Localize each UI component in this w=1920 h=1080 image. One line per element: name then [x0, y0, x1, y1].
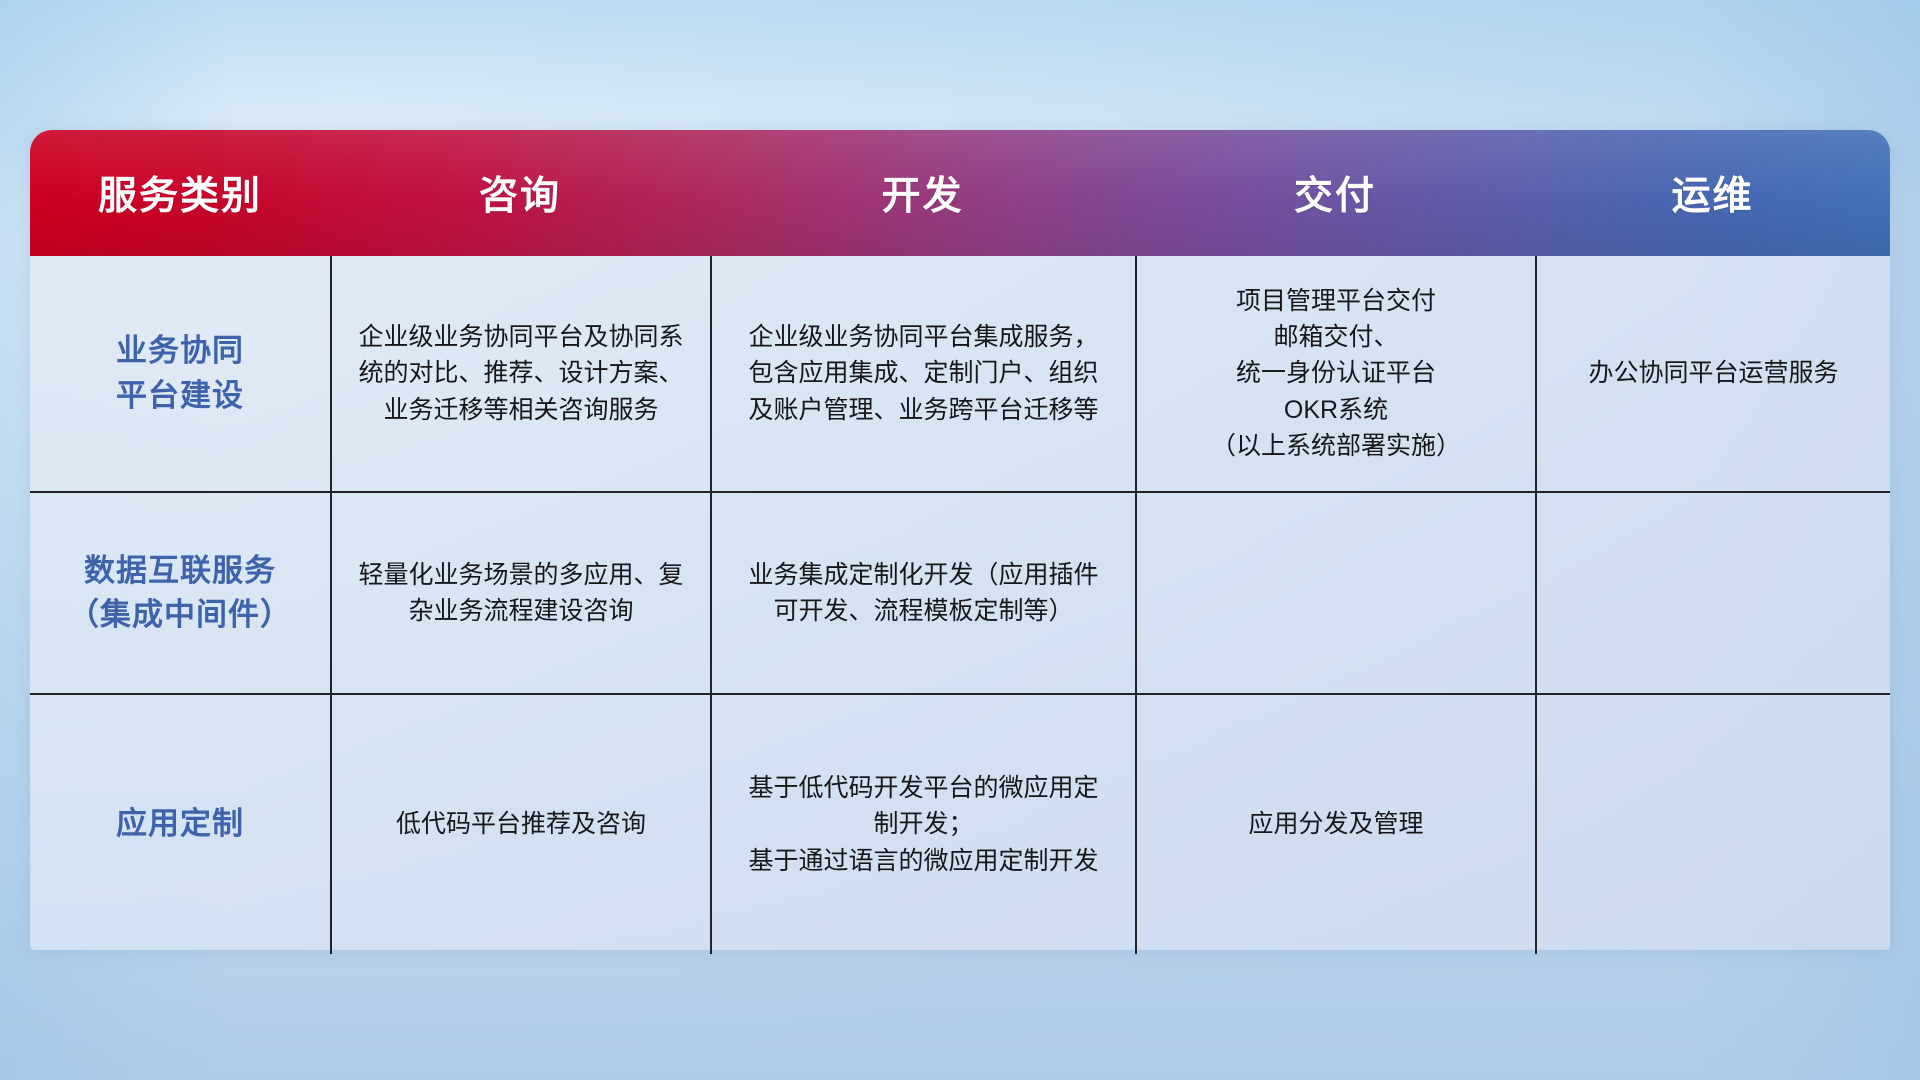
table-body: 业务协同 平台建设 企业级业务协同平台及协同系 统的对比、推荐、设计方案、 业务… [30, 256, 1890, 954]
cell-delivery-r3: 应用分发及管理 [1135, 695, 1535, 954]
row-label-app-customization: 应用定制 [30, 695, 330, 954]
cell-consulting-r3: 低代码平台推荐及咨询 [330, 695, 710, 954]
column-header-category: 服务类别 [30, 130, 330, 256]
cell-consulting-r2: 轻量化业务场景的多应用、复 杂业务流程建设咨询 [330, 493, 710, 693]
cell-development-r1: 企业级业务协同平台集成服务， 包含应用集成、定制门户、组织 及账户管理、业务跨平… [710, 256, 1135, 491]
cell-delivery-r1: 项目管理平台交付 邮箱交付、 统一身份认证平台 OKR系统 （以上系统部署实施） [1135, 256, 1535, 491]
cell-operations-r2 [1535, 493, 1890, 693]
slide-canvas: 服务类别 咨询 开发 交付 运维 业务协同 平台建设 企业级业务协同平台及协同系… [0, 0, 1920, 1080]
row-label-business-collaboration: 业务协同 平台建设 [30, 256, 330, 491]
column-header-operations: 运维 [1535, 130, 1890, 256]
column-header-development: 开发 [710, 130, 1135, 256]
table-row: 数据互联服务 （集成中间件） 轻量化业务场景的多应用、复 杂业务流程建设咨询 业… [30, 491, 1890, 693]
column-header-delivery: 交付 [1135, 130, 1535, 256]
services-matrix-card: 服务类别 咨询 开发 交付 运维 业务协同 平台建设 企业级业务协同平台及协同系… [30, 130, 1890, 950]
table-row: 应用定制 低代码平台推荐及咨询 基于低代码开发平台的微应用定 制开发； 基于通过… [30, 693, 1890, 954]
cell-delivery-r2 [1135, 493, 1535, 693]
cell-consulting-r1: 企业级业务协同平台及协同系 统的对比、推荐、设计方案、 业务迁移等相关咨询服务 [330, 256, 710, 491]
cell-operations-r3 [1535, 695, 1890, 954]
cell-development-r3: 基于低代码开发平台的微应用定 制开发； 基于通过语言的微应用定制开发 [710, 695, 1135, 954]
row-label-data-interconnect: 数据互联服务 （集成中间件） [30, 493, 330, 693]
cell-operations-r1: 办公协同平台运营服务 [1535, 256, 1890, 491]
column-header-consulting: 咨询 [330, 130, 710, 256]
cell-development-r2: 业务集成定制化开发（应用插件 可开发、流程模板定制等） [710, 493, 1135, 693]
table-row: 业务协同 平台建设 企业级业务协同平台及协同系 统的对比、推荐、设计方案、 业务… [30, 256, 1890, 491]
table-header-row: 服务类别 咨询 开发 交付 运维 [30, 130, 1890, 256]
